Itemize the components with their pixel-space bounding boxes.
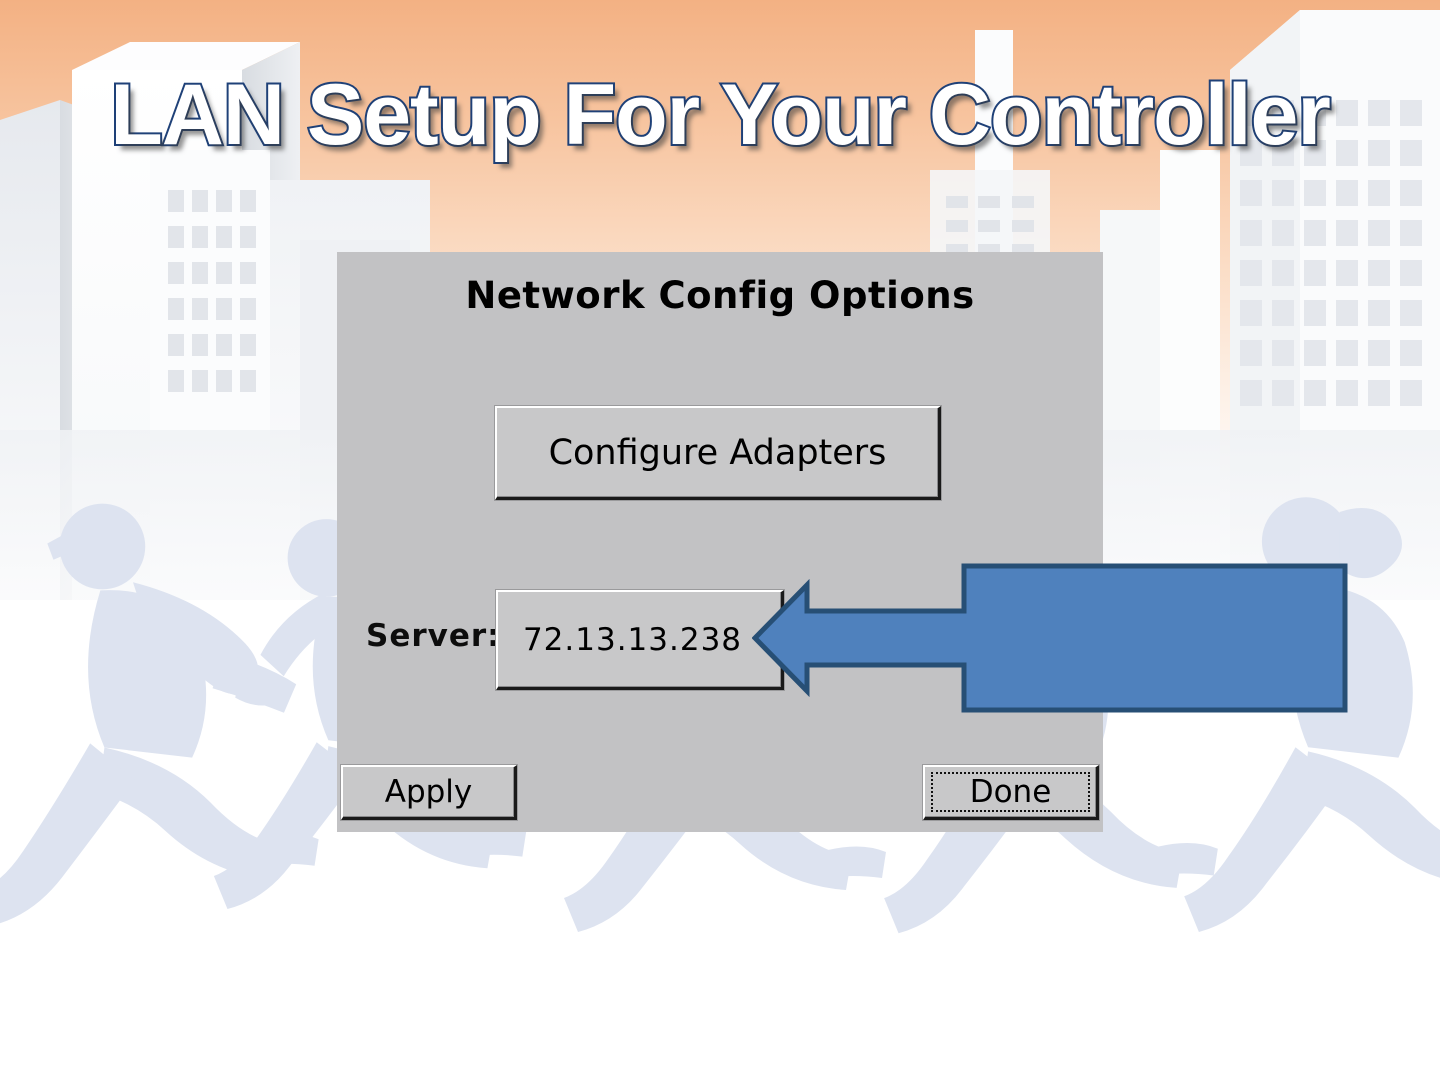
server-input[interactable]: 72.13.13.238 (496, 590, 784, 690)
arrow-polygon (755, 566, 1345, 710)
apply-label: Apply (385, 774, 473, 810)
done-label: Done (970, 774, 1052, 810)
configure-adapters-label: Configure Adapters (549, 433, 887, 473)
slide-title: LAN Setup For Your Controller (0, 72, 1440, 158)
server-value: 72.13.13.238 (523, 622, 742, 658)
network-config-dialog: Network Config Options Configure Adapter… (337, 252, 1103, 832)
dialog-heading: Network Config Options (337, 274, 1103, 317)
configure-adapters-button[interactable]: Configure Adapters (495, 406, 941, 500)
callout-arrow-shape[interactable] (752, 563, 1348, 713)
done-button[interactable]: Done (923, 765, 1099, 820)
apply-button[interactable]: Apply (341, 765, 517, 820)
server-label: Server: (366, 618, 501, 654)
slide-canvas: LAN Setup For Your Controller Network Co… (0, 0, 1440, 1080)
